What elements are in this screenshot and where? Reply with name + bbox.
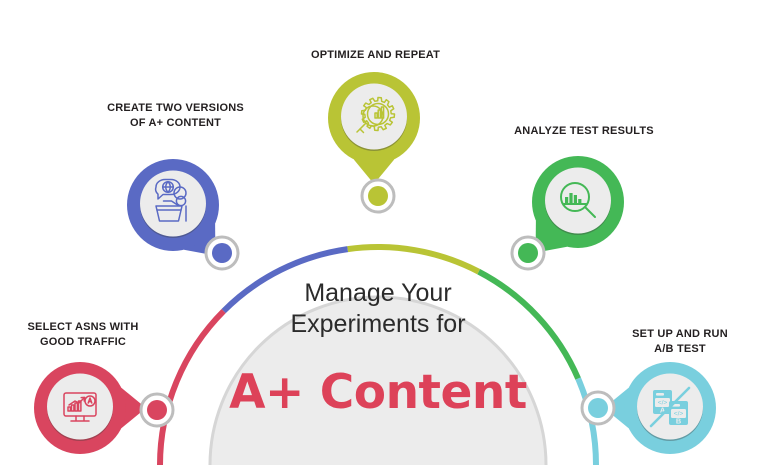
step-label-create-two-versions: CREATE TWO VERSIONS OF A+ CONTENT	[88, 101, 263, 131]
step-label-set-up-ab-test: SET UP AND RUN A/B TEST	[600, 327, 760, 357]
step-label-optimize-and-repeat: OPTIMIZE AND REPEAT	[288, 48, 463, 63]
infographic-canvas: </>A</>B Manage Your Experiments for A+ …	[0, 0, 768, 465]
center-subtitle-line2: Experiments for	[228, 309, 528, 340]
step-label-analyze-test-results: ANALYZE TEST RESULTS	[494, 124, 674, 139]
center-headline: A+ Content	[208, 365, 548, 420]
center-subtitle: Manage Your Experiments for	[228, 278, 528, 339]
center-subtitle-line1: Manage Your	[228, 278, 528, 309]
step-label-select-asns: SELECT ASNS WITH GOOD TRAFFIC	[8, 320, 158, 350]
